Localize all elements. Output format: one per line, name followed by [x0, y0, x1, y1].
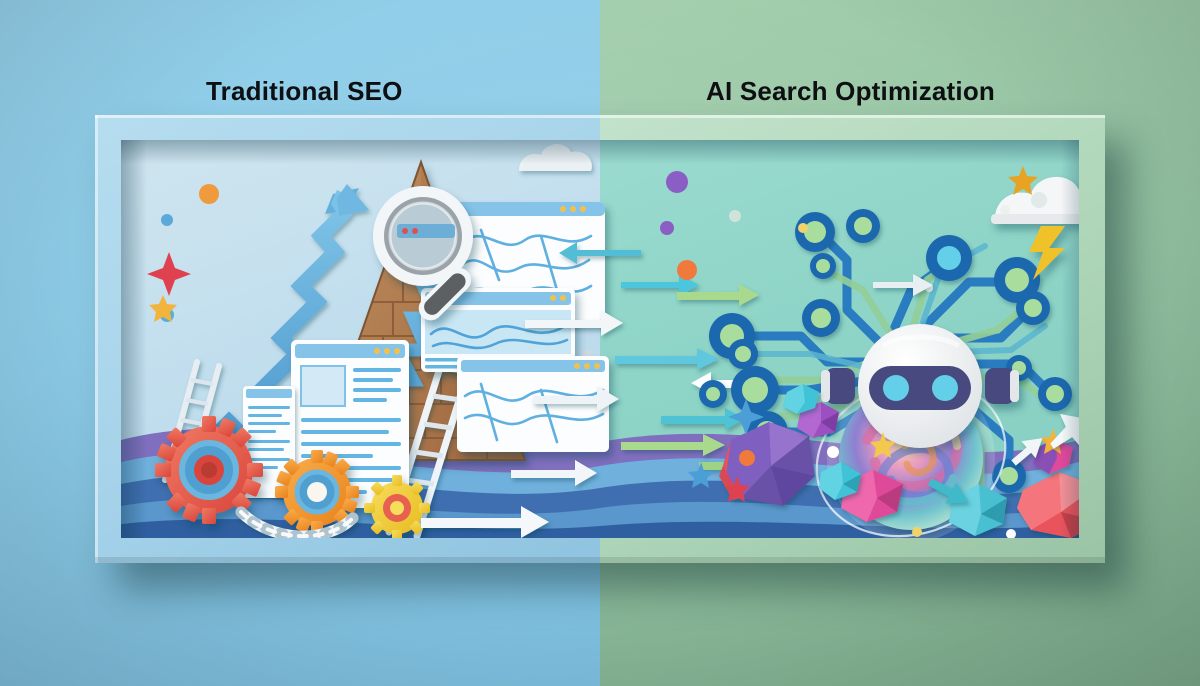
frame-bevel-bottom	[95, 557, 1105, 563]
scene-canvas: Traditional SEO AI Search Optimization	[0, 0, 1200, 686]
well-backdrop	[121, 140, 1079, 538]
panel-title-ai-search-optimization: AI Search Optimization	[706, 76, 995, 107]
frame-bevel-left	[95, 115, 98, 563]
diorama-inner-well	[121, 140, 1079, 538]
diorama-frame	[95, 115, 1105, 563]
panel-title-traditional-seo: Traditional SEO	[206, 76, 403, 107]
robot-eye-left	[883, 375, 909, 401]
cloud-small	[519, 144, 592, 171]
gear-yellow	[364, 475, 430, 538]
gear-red	[155, 416, 263, 524]
robot-eye-right	[932, 375, 958, 401]
diorama-artwork	[121, 140, 1079, 538]
frame-bevel-top	[95, 115, 1105, 118]
